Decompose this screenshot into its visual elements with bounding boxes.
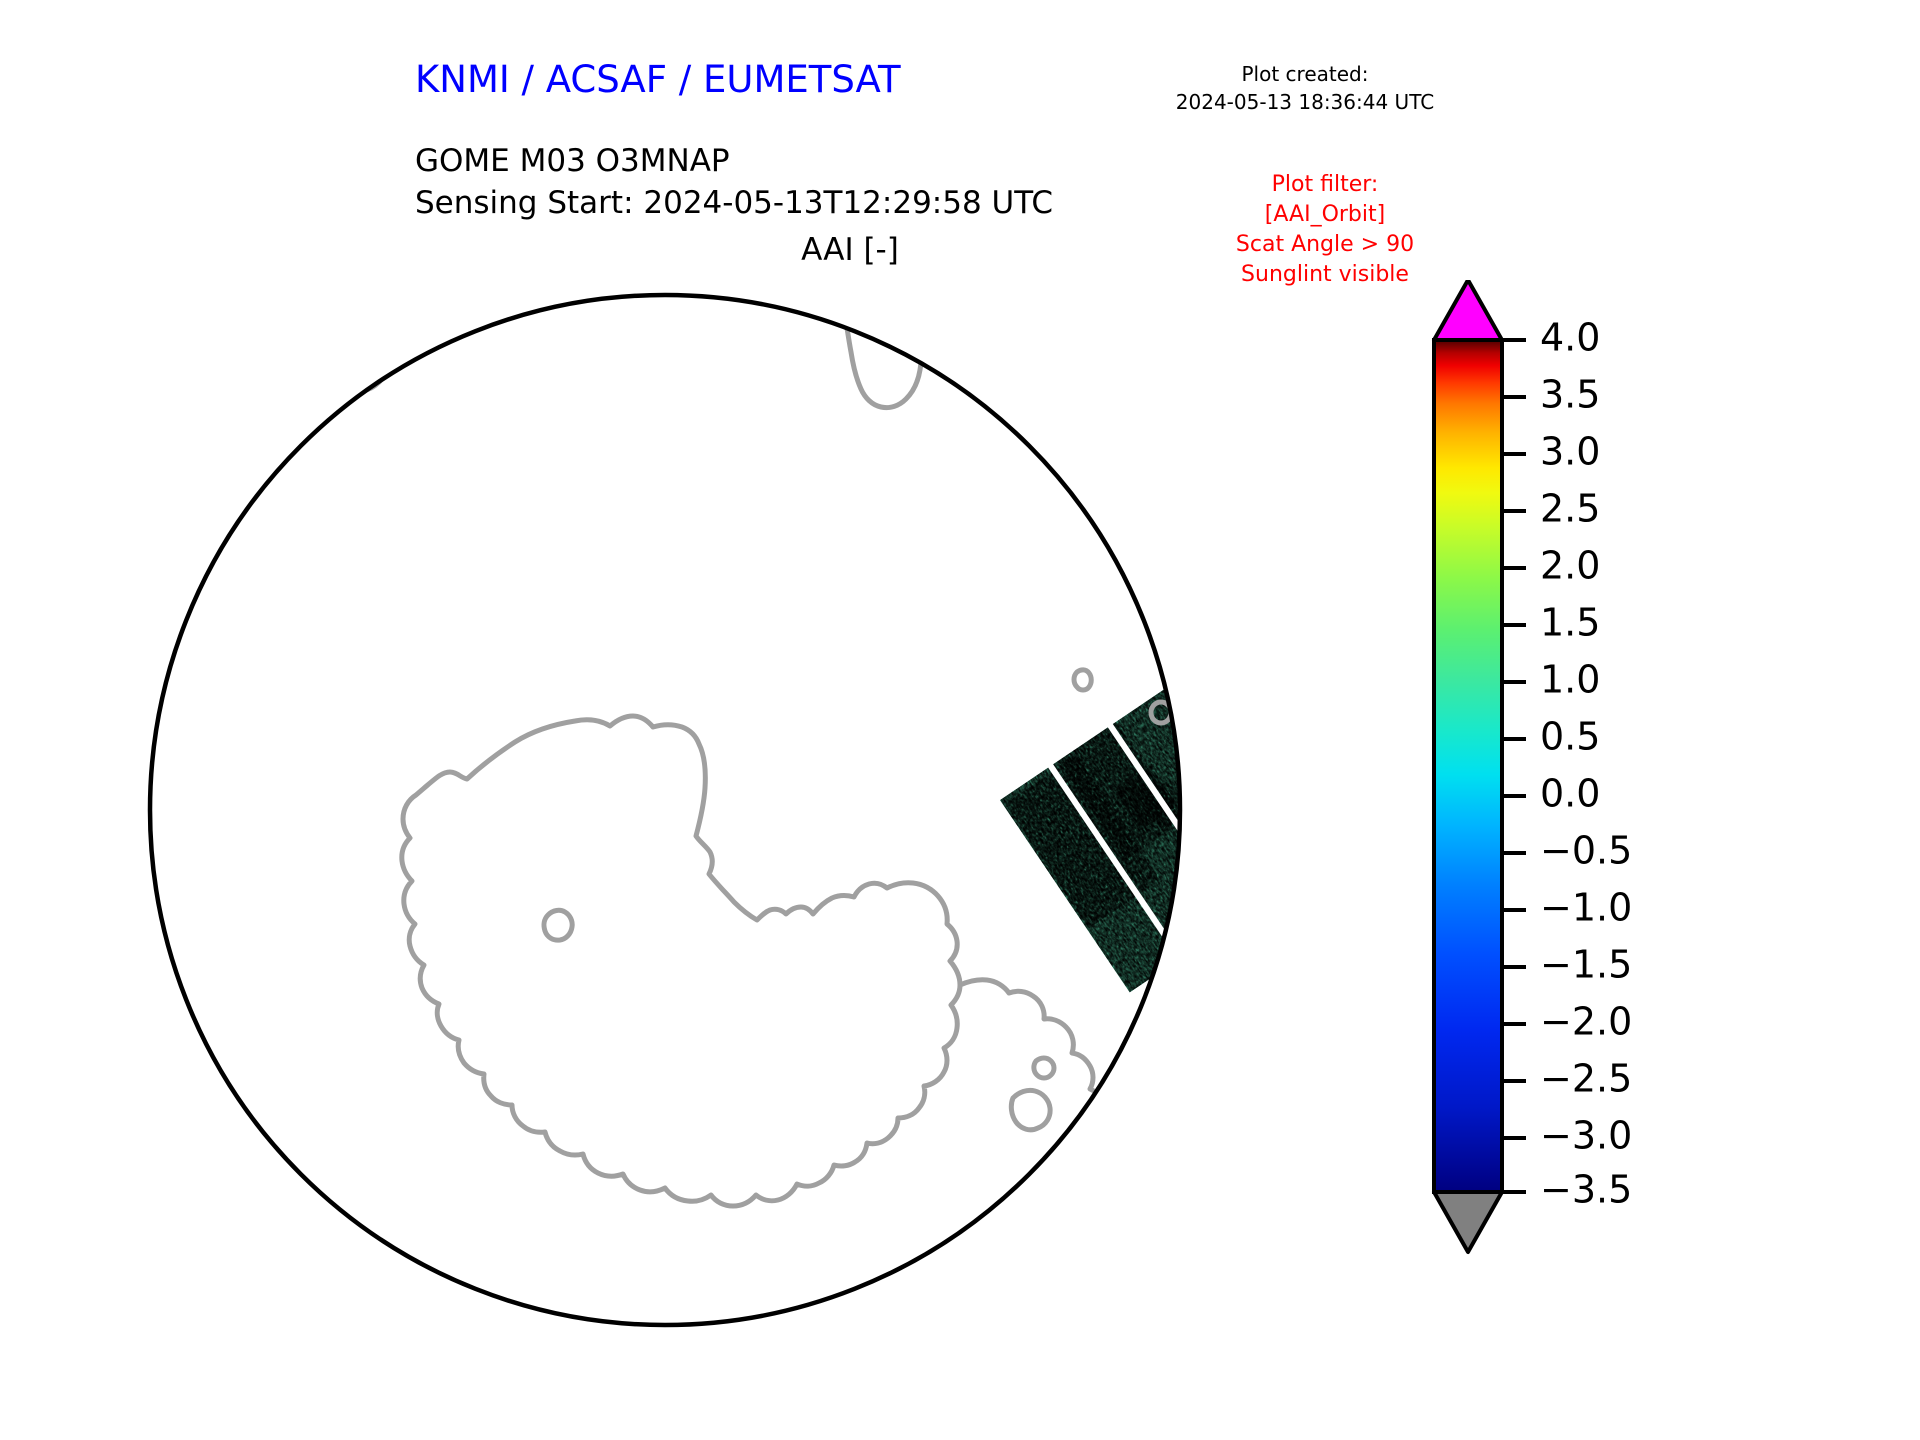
organisation-header: KNMI / ACSAF / EUMETSAT	[415, 58, 901, 101]
cb-label-14: −3.0	[1540, 1114, 1632, 1158]
colorbar-gradient	[1434, 340, 1502, 1192]
plot-filter-line-2: Scat Angle > 90	[1175, 230, 1475, 260]
colorbar-under-arrow	[1434, 1192, 1502, 1252]
cb-label-4: 2.0	[1540, 544, 1600, 588]
cb-label-9: −0.5	[1540, 829, 1632, 873]
colorbar-ticks	[1502, 340, 1526, 1192]
product-name: GOME M03 O3MNAP	[415, 140, 1053, 182]
cb-label-3: 2.5	[1540, 487, 1600, 531]
plot-created-block: Plot created: 2024-05-13 18:36:44 UTC	[1155, 60, 1455, 116]
colorbar-over-arrow	[1434, 280, 1502, 340]
cb-label-7: 0.5	[1540, 715, 1600, 759]
cb-label-2: 3.0	[1540, 430, 1600, 474]
coastline-peninsula-island-3	[1083, 1110, 1122, 1153]
cb-label-0: 4.0	[1540, 316, 1600, 360]
cb-label-5: 1.5	[1540, 601, 1600, 645]
colorbar[interactable]: 4.0 3.5 3.0 2.5 2.0 1.5 1.0 0.5 0.0 −0.5…	[1430, 280, 1850, 1310]
plot-filter-block: Plot filter: [AAI_Orbit] Scat Angle > 90…	[1175, 170, 1475, 290]
plot-created-value: 2024-05-13 18:36:44 UTC	[1155, 88, 1455, 116]
product-info-block: GOME M03 O3MNAP Sensing Start: 2024-05-1…	[415, 140, 1053, 224]
colorbar-canvas[interactable]: 4.0 3.5 3.0 2.5 2.0 1.5 1.0 0.5 0.0 −0.5…	[1430, 280, 1850, 1310]
colorbar-tick-labels: 4.0 3.5 3.0 2.5 2.0 1.5 1.0 0.5 0.0 −0.5…	[1540, 316, 1632, 1212]
cb-label-10: −1.0	[1540, 886, 1632, 930]
cb-label-8: 0.0	[1540, 772, 1600, 816]
cb-label-15: −3.5	[1540, 1168, 1632, 1212]
sensing-start: Sensing Start: 2024-05-13T12:29:58 UTC	[415, 182, 1053, 224]
polar-map[interactable]	[120, 280, 1420, 1400]
cb-label-11: −1.5	[1540, 943, 1632, 987]
cb-label-12: −2.0	[1540, 1000, 1632, 1044]
cb-label-1: 3.5	[1540, 373, 1600, 417]
plot-created-label: Plot created:	[1155, 60, 1455, 88]
coastline-australia-tip	[215, 297, 284, 349]
plot-filter-line-1: [AAI_Orbit]	[1175, 200, 1475, 230]
plot-filter-label: Plot filter:	[1175, 170, 1475, 200]
cb-label-13: −2.5	[1540, 1057, 1632, 1101]
cb-label-6: 1.0	[1540, 658, 1600, 702]
map-canvas[interactable]	[120, 280, 1420, 1400]
